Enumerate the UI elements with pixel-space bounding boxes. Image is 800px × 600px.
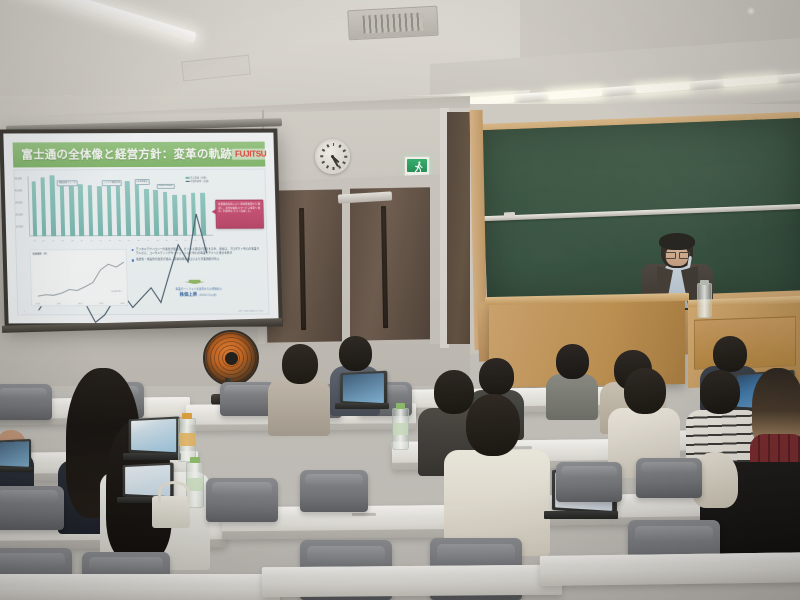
bullet-marker-icon xyxy=(132,259,134,261)
projector-screen: 富士通の全体像と経営方針：変革の軌跡 FUJITSU 売上収益（左軸） 営業利益… xyxy=(0,129,283,328)
slide-title-bar: 富士通の全体像と経営方針：変革の軌跡 FUJITSU xyxy=(13,141,265,168)
chart-x-tick: 07 xyxy=(52,240,54,242)
glasses-icon xyxy=(665,252,689,257)
slide-body: 売上収益（左軸） 営業利益率（右軸） 50,000 40,000 30,000 … xyxy=(14,169,269,316)
slide-conclusion: 事業ポートフォリオ改革からの評価向上 株価上昇（2020年7月以降） xyxy=(146,288,252,298)
wall-clock xyxy=(315,139,350,174)
bullet-text-1: 収益性・成長性の改善が進み、資本効率の向上により企業価値が向上 xyxy=(136,258,219,262)
chart-x-tick: 12 xyxy=(99,240,101,242)
conclusion-note: （2020年7月以降） xyxy=(197,293,218,296)
presenter-water-bottle xyxy=(697,283,712,318)
student xyxy=(268,344,330,430)
ceiling-air-vent xyxy=(347,6,438,41)
chart-x-tick: 13 xyxy=(109,240,111,242)
conclusion-bold: 株価上昇 xyxy=(180,291,198,296)
student xyxy=(444,394,550,554)
slide-title: 富士通の全体像と経営方針：変革の軌跡 xyxy=(21,146,232,163)
slide-page-number: 7 xyxy=(24,311,25,313)
chart-x-tick: 19 xyxy=(166,240,168,242)
chair[interactable] xyxy=(300,470,368,512)
chart-x-tick: 06 xyxy=(42,240,44,242)
laptop[interactable] xyxy=(0,440,30,468)
bullet-text-0: デジタルテクノロジーの進化が加速し、ビジネス環境が変化する中、当社は、プロダクト… xyxy=(136,248,262,256)
chair[interactable] xyxy=(0,486,64,530)
running-person-icon xyxy=(414,161,423,173)
revenue-margin-combo-chart: 売上収益（左軸） 営業利益率（右軸） 50,000 40,000 30,000 … xyxy=(27,176,213,243)
chart-x-tick: 21 xyxy=(185,240,187,242)
water-bottle[interactable] xyxy=(178,418,196,462)
presentation-slide: 富士通の全体像と経営方針：変革の軌跡 FUJITSU 売上収益（左軸） 営業利益… xyxy=(3,133,278,324)
bullet-marker-icon xyxy=(132,249,134,251)
back-door-right[interactable] xyxy=(347,187,434,340)
chart-x-tick: 18 xyxy=(156,240,158,242)
chalkboard-eraser[interactable] xyxy=(504,212,515,217)
chart-x-tick: 15 xyxy=(128,240,130,242)
chart-x-tick: 08 xyxy=(61,240,63,242)
student xyxy=(608,368,680,472)
chair[interactable] xyxy=(556,462,622,502)
chart-x-tick: 14 xyxy=(118,240,120,242)
chart-x-tick: 11 xyxy=(90,240,92,242)
stock-chart-title: 株価推移（円） xyxy=(33,252,49,256)
bullet-item: デジタルテクノロジーの進化が加速し、ビジネス環境が変化する中、当社は、プロダクト… xyxy=(132,248,262,256)
student xyxy=(546,344,598,414)
chart-callout-box: 事業構造改革により 低採算事業から 撤退し、高付加価値 のサービス事業へ 集中。… xyxy=(215,200,264,229)
chart-x-tick: 09 xyxy=(71,240,73,242)
chart-x-tick: 20 xyxy=(175,240,177,242)
desk-row-foreground-2 xyxy=(262,565,562,598)
fujitsu-logo: FUJITSU xyxy=(232,148,270,159)
chart-annotation-0: 構造改革フェーズ xyxy=(57,180,78,186)
chart-x-tick: 22 xyxy=(194,239,196,241)
door-jamb-center xyxy=(342,186,350,344)
desk-row-foreground xyxy=(0,574,280,600)
chart-annotation-3: Fujitsu Uvance xyxy=(157,184,175,189)
down-arrow-icon xyxy=(184,279,205,284)
bullet-item: 収益性・成長性の改善が進み、資本効率の向上により企業価値が向上 xyxy=(132,258,262,262)
chart-x-tick: 05 xyxy=(33,240,35,242)
desk-row-foreground-3 xyxy=(540,552,800,586)
stock-x-labels: 20152017201920212023 xyxy=(36,303,125,305)
laptop[interactable] xyxy=(338,372,386,404)
chart-annotation-1: ノンコア事業売却 xyxy=(101,180,122,186)
ceiling-speaker xyxy=(746,6,756,16)
presenter-hair xyxy=(659,233,695,250)
chair[interactable] xyxy=(636,458,702,498)
chart-annotation-2: DX企業宣言 xyxy=(134,178,149,184)
chart-x-tick: 17 xyxy=(147,240,149,242)
handbag[interactable] xyxy=(152,496,190,528)
chair[interactable] xyxy=(0,384,52,420)
slide-bullet-list: デジタルテクノロジーの進化が加速し、ビジネス環境が変化する中、当社は、プロダクト… xyxy=(132,248,263,309)
stock-price-chart: 株価推移（円） 2020年7月〜 20152017201920212023 xyxy=(29,249,127,306)
stock-chart-note: 2020年7月〜 xyxy=(111,290,123,293)
slide-source-note: 出所：各種公開資料より作成 xyxy=(238,310,263,313)
chart-x-tick: 23 xyxy=(204,239,206,241)
chart-x-tick: 10 xyxy=(80,240,82,242)
lecture-hall-photo: 富士通の全体像と経営方針：変革の軌跡 FUJITSU 売上収益（左軸） 営業利益… xyxy=(0,0,800,600)
chair[interactable] xyxy=(206,478,278,522)
chart-x-tick: 16 xyxy=(137,240,139,242)
water-bottle[interactable] xyxy=(392,408,409,450)
door-jamb-right xyxy=(430,184,440,344)
laptop[interactable] xyxy=(126,418,178,454)
